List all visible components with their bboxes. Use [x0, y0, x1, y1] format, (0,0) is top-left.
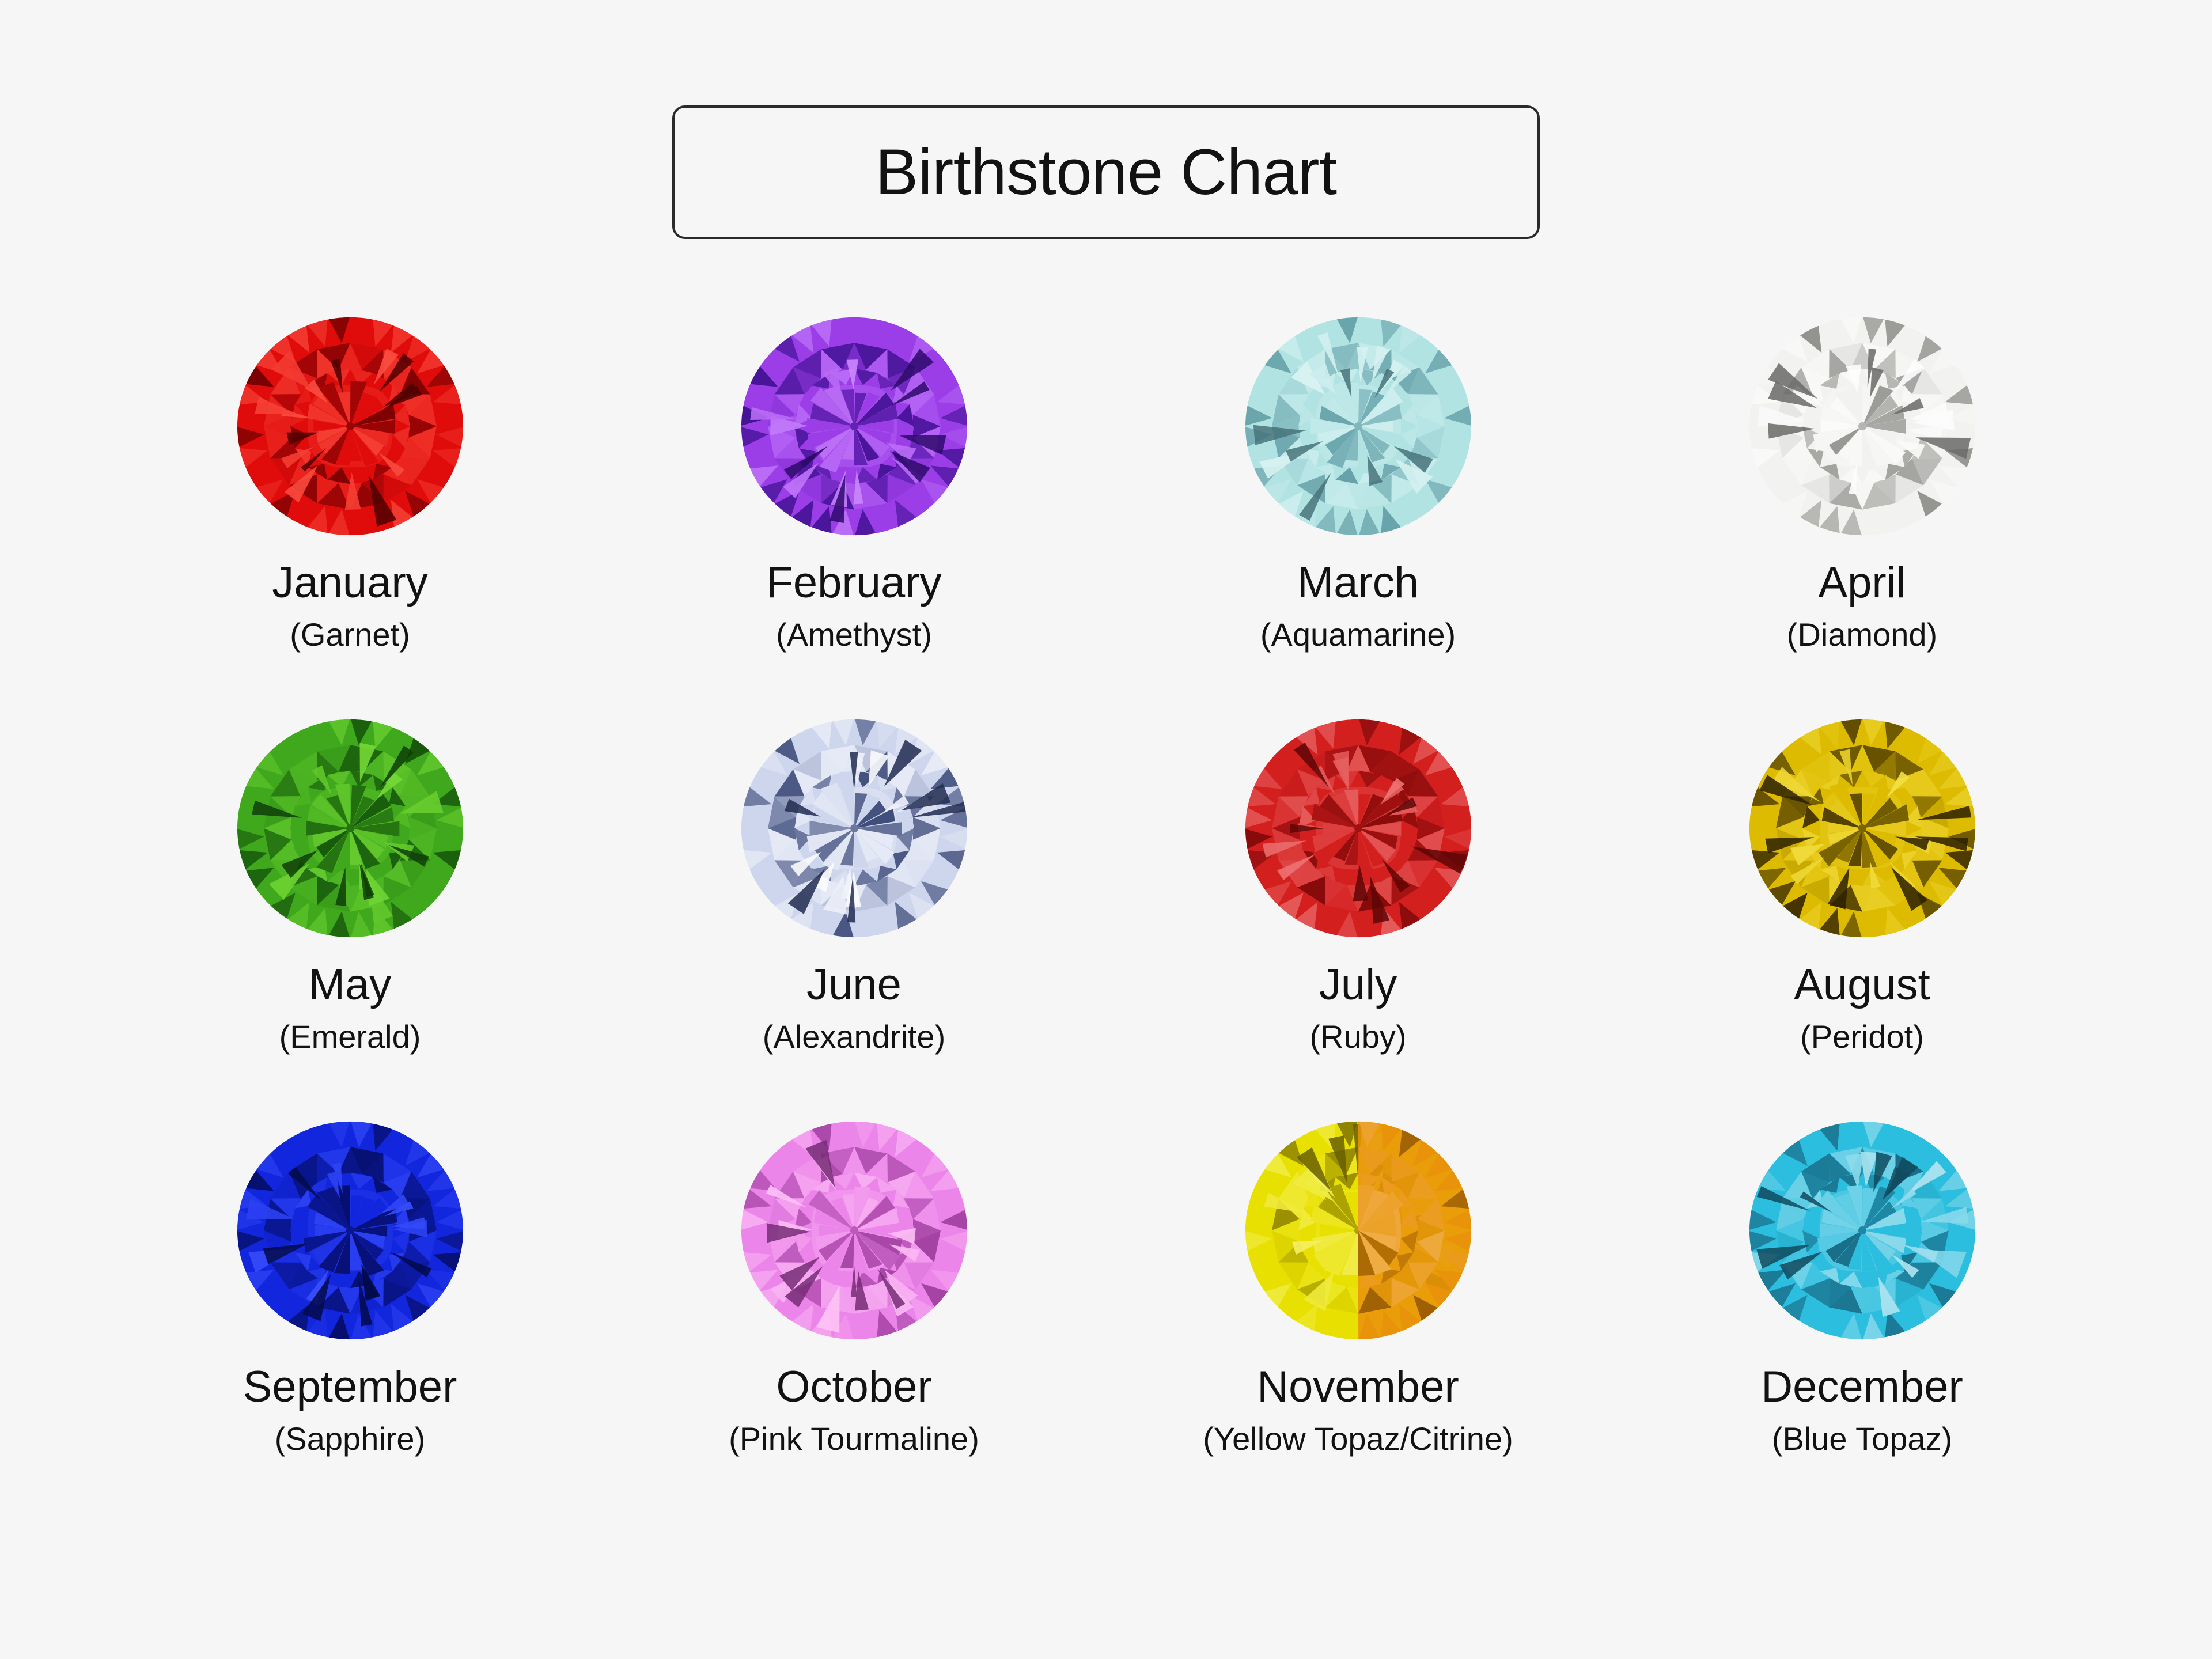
stone-label: (Ruby)	[1309, 1021, 1406, 1053]
birthstone-cell-july[interactable]: July(Ruby)	[1106, 713, 1610, 1053]
birthstone-cell-august[interactable]: August(Peridot)	[1610, 713, 2114, 1053]
birthstone-cell-april[interactable]: April(Diamond)	[1610, 311, 2114, 651]
stone-label: (Aquamarine)	[1260, 619, 1456, 651]
stone-label: (Sapphire)	[275, 1423, 425, 1455]
gem-icon-emerald	[235, 713, 465, 944]
gem-icon-blue-topaz	[1747, 1115, 1978, 1346]
month-label: September	[243, 1365, 457, 1409]
stone-label: (Amethyst)	[776, 619, 932, 651]
gem-icon-amethyst	[739, 311, 969, 541]
chart-title-box: Birthstone Chart	[672, 105, 1540, 239]
month-label: November	[1257, 1365, 1459, 1409]
gem-icon-peridot	[1747, 713, 1978, 944]
birthstone-cell-may[interactable]: May(Emerald)	[98, 713, 602, 1053]
gem-icon-pink-tourmaline	[739, 1115, 969, 1346]
gem-icon-ruby	[1243, 713, 1474, 944]
stone-label: (Pink Tourmaline)	[729, 1423, 979, 1455]
gem-icon-yellow-topaz-citrine	[1243, 1115, 1474, 1346]
month-label: January	[272, 561, 427, 605]
month-label: July	[1319, 963, 1397, 1007]
stone-label: (Peridot)	[1800, 1021, 1924, 1053]
page-title: Birthstone Chart	[875, 140, 1336, 204]
gem-icon-garnet	[235, 311, 465, 541]
month-label: December	[1761, 1365, 1963, 1409]
month-label: October	[776, 1365, 931, 1409]
birthstone-cell-september[interactable]: September(Sapphire)	[98, 1115, 602, 1455]
stone-label: (Alexandrite)	[763, 1021, 945, 1053]
month-label: May	[309, 963, 392, 1007]
stone-label: (Emerald)	[279, 1021, 421, 1053]
stone-label: (Blue Topaz)	[1772, 1423, 1952, 1455]
birthstone-cell-june[interactable]: June(Alexandrite)	[602, 713, 1106, 1053]
birthstone-grid: January(Garnet)February(Amethyst)March(A…	[98, 311, 2114, 1455]
gem-icon-diamond	[1747, 311, 1978, 541]
gem-icon-aquamarine	[1243, 311, 1474, 541]
month-label: February	[766, 561, 941, 605]
month-label: August	[1794, 963, 1930, 1007]
birthstone-cell-february[interactable]: February(Amethyst)	[602, 311, 1106, 651]
month-label: June	[806, 963, 902, 1007]
stone-label: (Yellow Topaz/Citrine)	[1203, 1423, 1513, 1455]
stone-label: (Garnet)	[290, 619, 410, 651]
gem-icon-alexandrite	[739, 713, 969, 944]
stone-label: (Diamond)	[1787, 619, 1937, 651]
birthstone-cell-november[interactable]: November(Yellow Topaz/Citrine)	[1106, 1115, 1610, 1455]
birthstone-cell-october[interactable]: October(Pink Tourmaline)	[602, 1115, 1106, 1455]
gem-icon-sapphire	[235, 1115, 465, 1346]
birthstone-chart-root: Birthstone Chart January(Garnet)February…	[0, 0, 2212, 1659]
month-label: March	[1297, 561, 1419, 605]
birthstone-cell-december[interactable]: December(Blue Topaz)	[1610, 1115, 2114, 1455]
birthstone-cell-january[interactable]: January(Garnet)	[98, 311, 602, 651]
birthstone-cell-march[interactable]: March(Aquamarine)	[1106, 311, 1610, 651]
month-label: April	[1818, 561, 1906, 605]
